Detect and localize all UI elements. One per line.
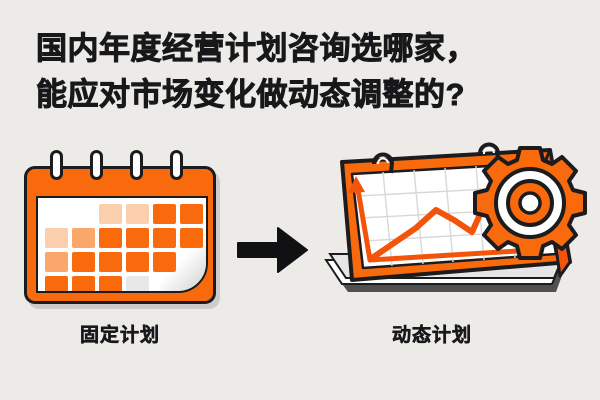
calendar-cell — [126, 204, 149, 224]
calendar-cell — [45, 276, 68, 293]
calendar-cell — [72, 276, 95, 293]
calendar-cell — [153, 204, 176, 224]
headline: 国内年度经营计划咨询选哪家， 能应对市场变化做动态调整的? — [36, 26, 576, 118]
calendar-cell — [72, 228, 95, 248]
fixed-plan-illustration — [14, 150, 226, 310]
poster-canvas: 国内年度经营计划咨询选哪家， 能应对市场变化做动态调整的? 固定计划 — [0, 0, 600, 400]
calendar-ring — [130, 150, 143, 180]
calendar-cell — [126, 252, 149, 272]
caption-dynamic-plan: 动态计划 — [312, 320, 552, 347]
calendar-body — [24, 166, 216, 304]
dynamic-calendar-svg — [312, 142, 590, 317]
headline-line-1: 国内年度经营计划咨询选哪家， — [36, 26, 576, 72]
calendar-ring — [90, 150, 103, 180]
calendar-ring — [170, 150, 183, 180]
calendar-cell-empty — [180, 252, 203, 272]
caption-fixed-plan: 固定计划 — [14, 320, 226, 347]
calendar-cell — [99, 252, 122, 272]
calendar-cell — [126, 228, 149, 248]
calendar-ring — [50, 150, 63, 180]
calendar-cell — [180, 228, 203, 248]
calendar-cell — [153, 228, 176, 248]
calendar-cell-empty — [45, 204, 68, 224]
calendar-cell — [72, 252, 95, 272]
calendar-cell — [99, 204, 122, 224]
calendar-cell — [153, 252, 176, 272]
calendar-day-grid — [45, 204, 203, 293]
calendar-cell — [180, 204, 203, 224]
calendar-page — [36, 196, 208, 293]
calendar-cell — [45, 252, 68, 272]
calendar-cell-empty — [72, 204, 95, 224]
right-arrow-icon — [236, 224, 310, 276]
calendar-cell — [99, 228, 122, 248]
calendar-cell-empty — [153, 276, 176, 293]
gear-icon — [475, 148, 585, 258]
calendar-cell — [126, 276, 149, 293]
dynamic-plan-illustration — [312, 142, 590, 317]
calendar-cell — [99, 276, 122, 293]
headline-line-2: 能应对市场变化做动态调整的? — [36, 72, 576, 118]
calendar-cell — [45, 228, 68, 248]
calendar-cell-empty — [180, 276, 203, 293]
transition-arrow — [236, 224, 310, 281]
